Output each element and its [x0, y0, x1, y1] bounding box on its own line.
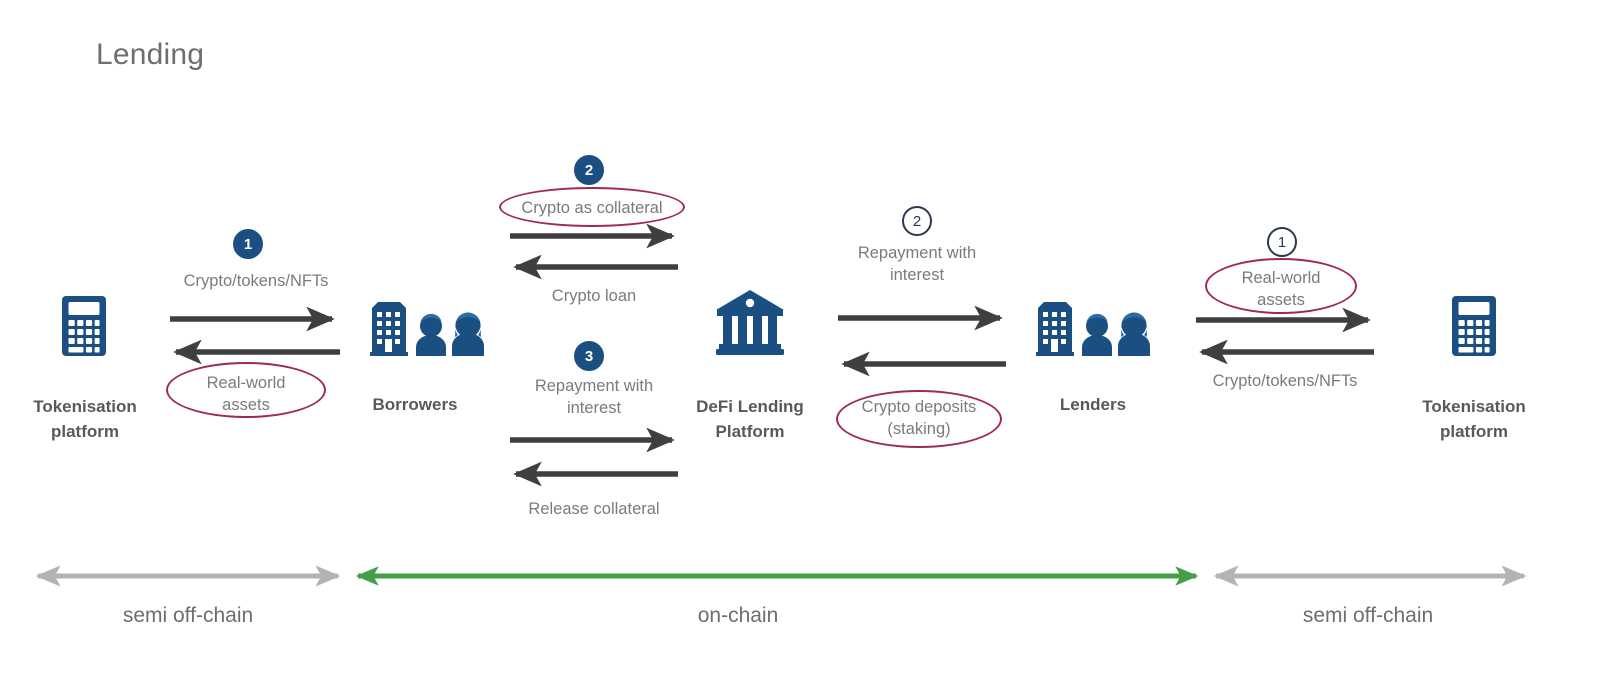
step-badge-2-borrower: 2 [574, 155, 604, 185]
calculator-icon [62, 296, 106, 356]
flow-label-crypto-tokens-nfts-right: Crypto/tokens/NFTs [1190, 370, 1380, 392]
step-badge-3-borrower: 3 [574, 341, 604, 371]
flow-label-repayment-with-interest-borrower: Repayment with interest [504, 375, 684, 420]
bank-icon [716, 290, 784, 355]
flow-label-crypto-deposits-staking: Crypto deposits (staking) [836, 396, 1002, 441]
flow-label-real-world-assets-right: Real-world assets [1205, 267, 1357, 312]
diagram-graphics-layer [0, 0, 1600, 680]
chain-label-semi-off-chain-right: semi off-chain [1268, 604, 1468, 628]
step-badge-2-lender: 2 [902, 206, 932, 236]
flow-label-repayment-with-interest-lender: Repayment with interest [827, 242, 1007, 287]
step-badge-1-right: 1 [1267, 227, 1297, 257]
building-people-icon [370, 302, 484, 356]
node-label-borrowers: Borrowers [330, 393, 500, 418]
flow-label-crypto-as-collateral: Crypto as collateral [499, 197, 685, 219]
flow-label-release-collateral: Release collateral [504, 498, 684, 520]
node-label-lenders: Lenders [1008, 393, 1178, 418]
diagram-canvas: Lending [0, 0, 1600, 680]
building-people-icon [1036, 302, 1150, 356]
node-label-tokenisation-left: Tokenisation platform [18, 395, 152, 444]
node-label-tokenisation-right: Tokenisation platform [1406, 395, 1542, 444]
calculator-icon [1452, 296, 1496, 356]
flow-label-crypto-loan: Crypto loan [509, 285, 679, 307]
step-badge-1-left: 1 [233, 229, 263, 259]
chain-label-on-chain: on-chain [638, 604, 838, 628]
chain-label-semi-off-chain-left: semi off-chain [88, 604, 288, 628]
flow-label-crypto-tokens-nfts-left: Crypto/tokens/NFTs [146, 270, 366, 292]
node-label-defi-platform: DeFi Lending Platform [668, 395, 832, 444]
flow-label-real-world-assets-left: Real-world assets [166, 372, 326, 417]
